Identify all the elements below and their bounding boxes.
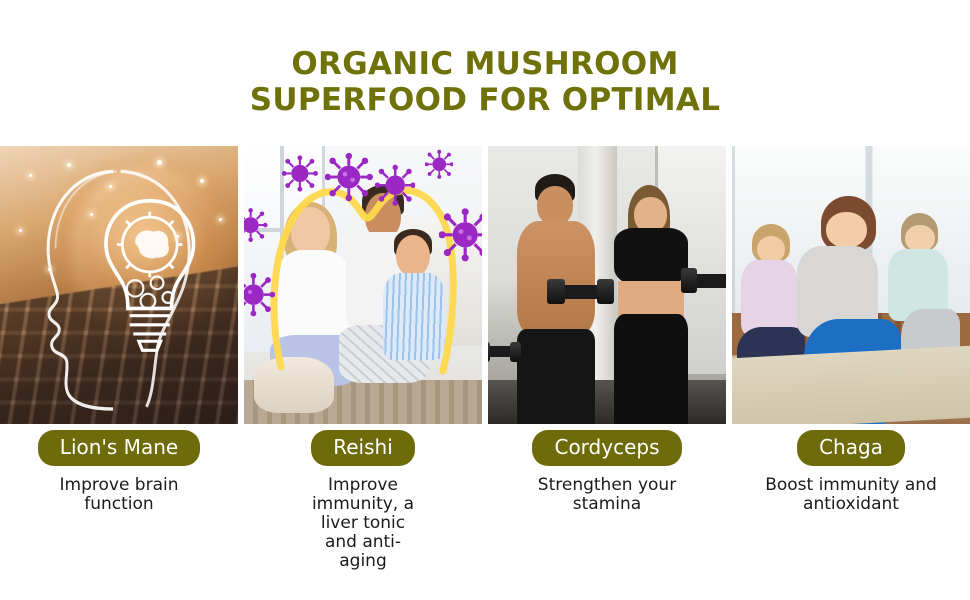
benefit-badge-lions-mane: Lion's Mane (38, 430, 200, 466)
benefit-item-lions-mane: Lion's Mane Improve brain function (0, 430, 238, 571)
benefit-caption-row: Lion's Mane Improve brain function Reish… (0, 430, 970, 571)
virus-particle-icon (244, 207, 268, 243)
virus-particle-icon (325, 152, 373, 202)
benefit-description-cordyceps: Strengthen your stamina (522, 476, 692, 514)
virus-particle-icon (425, 149, 454, 180)
cordyceps-image (488, 146, 726, 424)
benefit-item-cordyceps: Cordyceps Strengthen your stamina (488, 430, 726, 571)
yoga-mat-shape (732, 345, 970, 424)
virus-particle-icon (282, 154, 318, 193)
lightbulb-icon (95, 182, 204, 365)
dumbbell-icon (488, 346, 517, 357)
virus-particle-icon (375, 163, 415, 207)
benefit-description-reishi: Improve immunity, a liver tonic and anti… (303, 476, 423, 571)
dumbbell-icon (688, 274, 726, 288)
benefit-item-reishi: Reishi Improve immunity, a liver tonic a… (244, 430, 482, 571)
chaga-image (732, 146, 970, 424)
page-title: ORGANIC MUSHROOM SUPERFOOD FOR OPTIMAL (0, 46, 970, 118)
virus-particle-icon (244, 271, 275, 318)
reishi-image (244, 146, 482, 424)
benefit-badge-reishi: Reishi (311, 430, 415, 466)
benefit-item-chaga: Chaga Boost immunity and antioxidant (732, 430, 970, 571)
benefit-description-lions-mane: Improve brain function (34, 476, 204, 514)
benefit-badge-cordyceps: Cordyceps (532, 430, 681, 466)
product-benefits-banner: ORGANIC MUSHROOM SUPERFOOD FOR OPTIMAL (0, 0, 970, 600)
page-title-line-2: SUPERFOOD FOR OPTIMAL (0, 82, 970, 118)
lions-mane-image (0, 146, 238, 424)
benefit-description-chaga: Boost immunity and antioxidant (756, 476, 946, 514)
benefit-badge-chaga: Chaga (797, 430, 905, 466)
virus-particle-icon (439, 207, 482, 263)
cushion-shape (254, 357, 335, 413)
benefit-image-strip (0, 146, 970, 424)
child-figure (382, 232, 446, 388)
dumbbell-icon (555, 285, 607, 299)
female-athlete-figure (602, 185, 702, 424)
page-title-line-1: ORGANIC MUSHROOM (0, 46, 970, 82)
